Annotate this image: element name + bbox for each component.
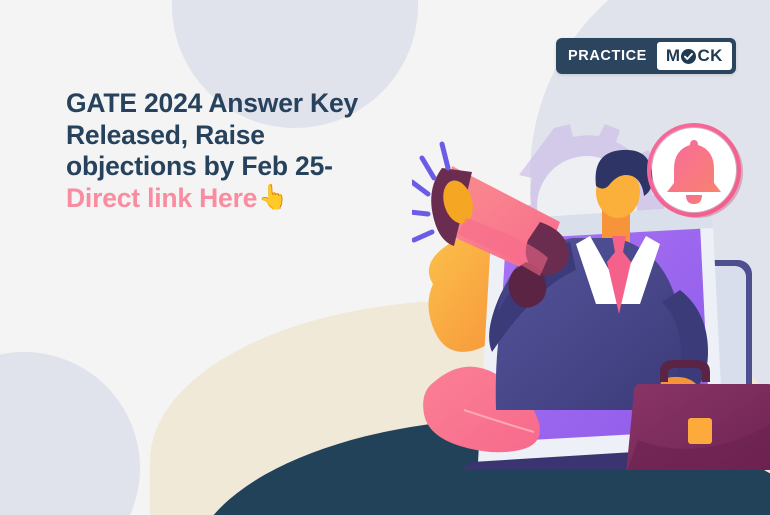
headline-block: GATE 2024 Answer Key Released, Raise obj… bbox=[66, 88, 436, 214]
practicemock-logo[interactable]: PRACTICE M CK bbox=[556, 38, 736, 74]
logo-practice-text: PRACTICE bbox=[560, 42, 657, 70]
headline-line-1: GATE 2024 Answer Key bbox=[66, 88, 436, 120]
logo-mock-prefix: M bbox=[666, 46, 681, 66]
background-circle-bottom-left bbox=[0, 352, 140, 515]
headline-link-line[interactable]: Direct link Here 👆 bbox=[66, 183, 436, 215]
pointing-up-finger-icon: 👆 bbox=[258, 186, 288, 210]
logo-mock-suffix: CK bbox=[697, 46, 722, 66]
headline-line-2: Released, Raise bbox=[66, 120, 436, 152]
headline-line-3: objections by Feb 25- bbox=[66, 151, 436, 183]
hero-illustration bbox=[412, 110, 770, 470]
check-icon bbox=[681, 49, 696, 64]
notification-bell-icon bbox=[649, 125, 743, 218]
logo-mock-badge: M CK bbox=[657, 42, 732, 70]
banner-root: PRACTICE M CK GATE 2024 Answer Key Relea… bbox=[0, 0, 770, 515]
direct-link-text: Direct link Here bbox=[66, 183, 257, 215]
